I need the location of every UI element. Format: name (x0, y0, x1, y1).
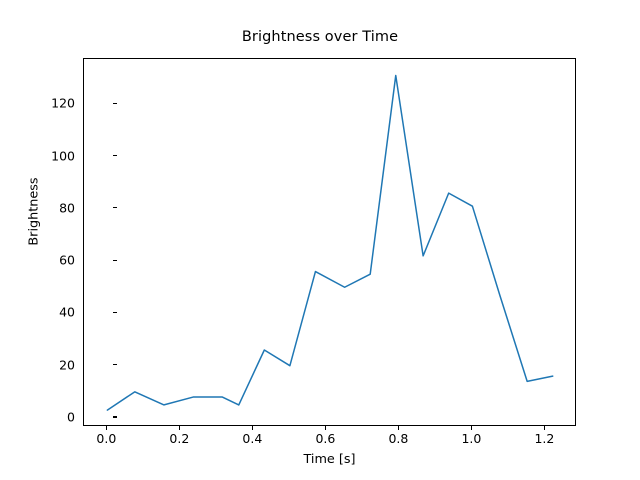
y-tick-mark (113, 312, 117, 313)
y-tick-mark (113, 364, 117, 365)
y-axis-label: Brightness (27, 142, 42, 282)
x-tick-label: 1.2 (534, 431, 554, 446)
y-tick-label: 20 (59, 357, 75, 372)
y-tick-label: 60 (59, 253, 75, 268)
y-tick-label: 120 (51, 96, 75, 111)
x-tick-mark (471, 426, 472, 430)
y-tick-label: 0 (67, 409, 75, 424)
y-tick-label: 100 (51, 148, 75, 163)
x-tick-mark (325, 426, 326, 430)
chart-title: Brightness over Time (0, 29, 640, 45)
x-tick-label: 0.6 (315, 431, 335, 446)
x-tick-mark (252, 426, 253, 430)
x-tick-label: 0.4 (242, 431, 262, 446)
x-tick-mark (544, 426, 545, 430)
y-tick-label: 40 (59, 305, 75, 320)
line-plot-svg (84, 59, 577, 427)
matplotlib-figure: Brightness over Time 020406080100120 0.0… (0, 0, 640, 480)
x-tick-mark (106, 426, 107, 430)
x-tick-label: 1.0 (461, 431, 481, 446)
x-tick-label: 0.2 (169, 431, 189, 446)
y-tick-mark (113, 260, 117, 261)
y-tick-mark (113, 155, 117, 156)
x-tick-mark (179, 426, 180, 430)
x-tick-mark (398, 426, 399, 430)
y-tick-label: 80 (59, 200, 75, 215)
plot-axes-frame (83, 58, 576, 426)
x-tick-label: 0.8 (388, 431, 408, 446)
x-axis-label: Time [s] (83, 452, 576, 467)
y-tick-mark (113, 416, 117, 417)
y-tick-mark (113, 207, 117, 208)
brightness-line-series (107, 75, 552, 410)
y-tick-mark (113, 103, 117, 104)
x-tick-label: 0.0 (96, 431, 116, 446)
